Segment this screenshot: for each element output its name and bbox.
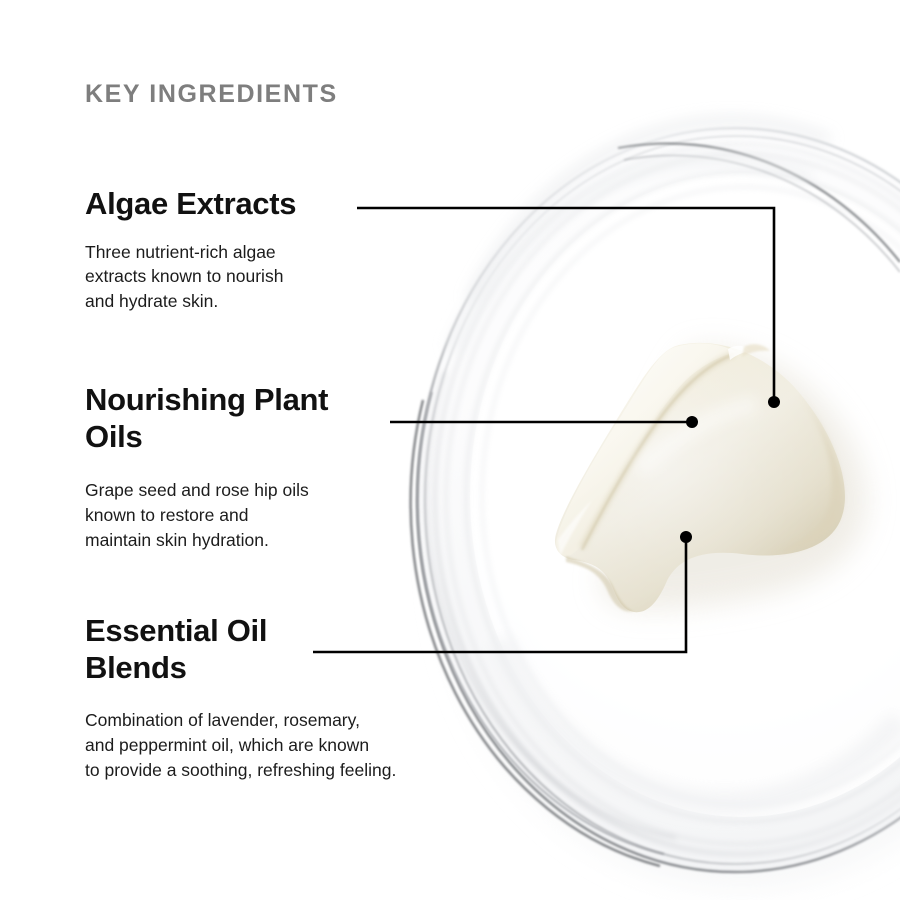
page-title: KEY INGREDIENTS [85, 80, 338, 109]
ingredient-block-nourishing-plant-oils: Nourishing Plant Oils Grape seed and ros… [85, 382, 328, 553]
key-ingredients-infographic: KEY INGREDIENTS Algae Extracts Three nut… [0, 0, 900, 900]
ingredient-block-algae-extracts: Algae Extracts Three nutrient-rich algae… [85, 186, 296, 314]
ingredient-description: Three nutrient-rich algae extracts known… [85, 240, 296, 315]
callout-text-layer: KEY INGREDIENTS Algae Extracts Three nut… [0, 0, 900, 900]
ingredient-description: Combination of lavender, rosemary, and p… [85, 708, 396, 783]
ingredient-block-essential-oil-blends: Essential Oil Blends Combination of lave… [85, 613, 396, 783]
ingredient-description: Grape seed and rose hip oils known to re… [85, 478, 328, 553]
ingredient-title: Essential Oil Blends [85, 613, 396, 686]
ingredient-title: Algae Extracts [85, 186, 296, 223]
ingredient-title: Nourishing Plant Oils [85, 382, 328, 455]
